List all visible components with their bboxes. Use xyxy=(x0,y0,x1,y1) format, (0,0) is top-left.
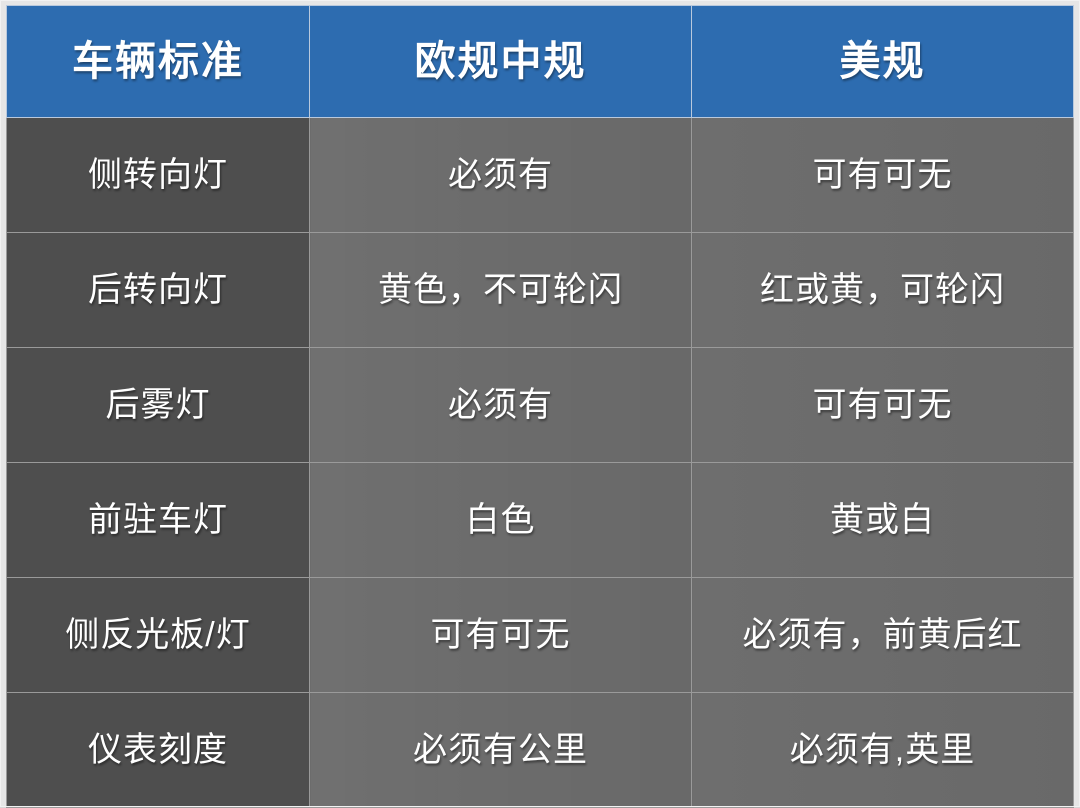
cell-us: 可有可无 xyxy=(692,348,1074,463)
cell-eu-cn: 白色 xyxy=(310,463,692,578)
cell-standard: 后雾灯 xyxy=(7,348,310,463)
table-header-row: 车辆标准 欧规中规 美规 xyxy=(7,6,1074,118)
cell-eu-cn: 必须有公里 xyxy=(310,693,692,808)
cell-eu-cn: 黄色，不可轮闪 xyxy=(310,233,692,348)
column-header-standard: 车辆标准 xyxy=(7,6,310,118)
cell-us: 可有可无 xyxy=(692,118,1074,233)
cell-us: 红或黄，可轮闪 xyxy=(692,233,1074,348)
table-body: 侧转向灯 必须有 可有可无 后转向灯 黄色，不可轮闪 红或黄，可轮闪 后雾灯 必… xyxy=(7,118,1074,808)
cell-eu-cn: 必须有 xyxy=(310,348,692,463)
cell-standard: 仪表刻度 xyxy=(7,693,310,808)
table-header: 车辆标准 欧规中规 美规 xyxy=(7,6,1074,118)
comparison-table-frame: 车辆标准 欧规中规 美规 侧转向灯 必须有 可有可无 后转向灯 黄色，不可轮闪 … xyxy=(0,0,1080,807)
column-header-us: 美规 xyxy=(692,6,1074,118)
vehicle-standard-comparison-table: 车辆标准 欧规中规 美规 侧转向灯 必须有 可有可无 后转向灯 黄色，不可轮闪 … xyxy=(6,5,1074,808)
table-row: 侧反光板/灯 可有可无 必须有，前黄后红 xyxy=(7,578,1074,693)
cell-eu-cn: 可有可无 xyxy=(310,578,692,693)
table-row: 前驻车灯 白色 黄或白 xyxy=(7,463,1074,578)
table-row: 后雾灯 必须有 可有可无 xyxy=(7,348,1074,463)
cell-us: 黄或白 xyxy=(692,463,1074,578)
cell-standard: 后转向灯 xyxy=(7,233,310,348)
cell-us: 必须有，前黄后红 xyxy=(692,578,1074,693)
cell-standard: 前驻车灯 xyxy=(7,463,310,578)
cell-us: 必须有,英里 xyxy=(692,693,1074,808)
table-row: 后转向灯 黄色，不可轮闪 红或黄，可轮闪 xyxy=(7,233,1074,348)
column-header-eu-cn: 欧规中规 xyxy=(310,6,692,118)
table-row: 侧转向灯 必须有 可有可无 xyxy=(7,118,1074,233)
table-row: 仪表刻度 必须有公里 必须有,英里 xyxy=(7,693,1074,808)
cell-eu-cn: 必须有 xyxy=(310,118,692,233)
cell-standard: 侧转向灯 xyxy=(7,118,310,233)
cell-standard: 侧反光板/灯 xyxy=(7,578,310,693)
